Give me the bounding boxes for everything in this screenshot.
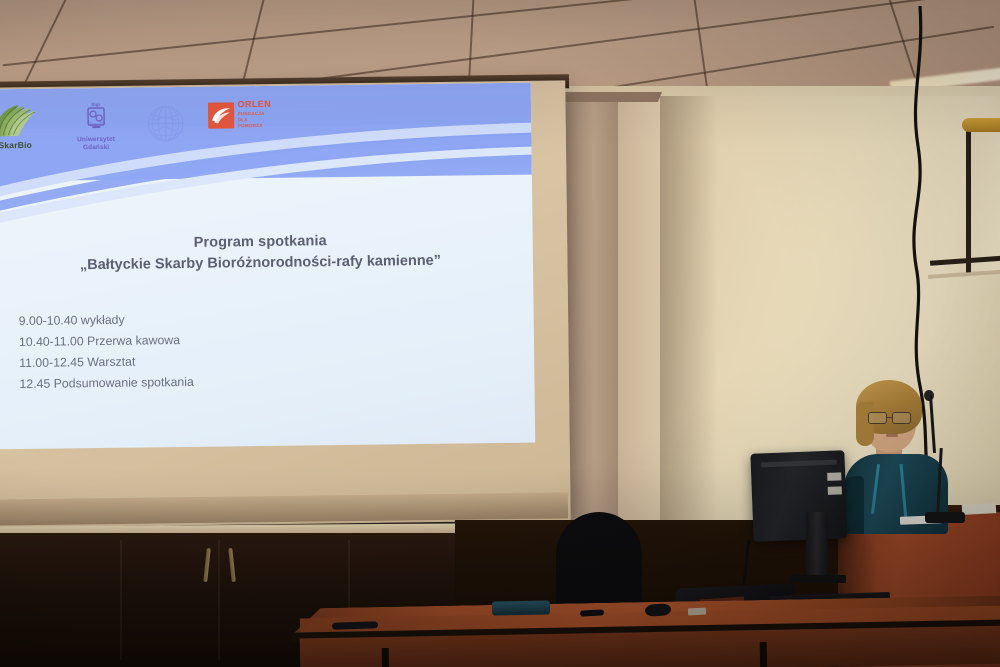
ug-label-line2: Gdański — [69, 144, 124, 153]
monitor-stand-neck — [806, 512, 828, 578]
presenter-hair-side — [856, 402, 874, 446]
globe-icon — [143, 101, 188, 146]
usb-drive[interactable] — [688, 608, 706, 616]
monitor-sticker — [827, 472, 841, 481]
column-top-edge — [556, 92, 662, 102]
slide-title: Program spotkania „Bałtyckie Skarby Bior… — [0, 231, 533, 275]
podium-papers — [962, 503, 996, 515]
blue-case[interactable] — [492, 600, 550, 615]
slide-title-line2: „Bałtyckie Skarby Bioróżnorodności-rafy … — [0, 252, 533, 275]
slide-agenda-list: 9.00-10.40 wykłady 10.40-11.00 Przerwa k… — [19, 309, 194, 396]
microphone-base[interactable] — [925, 512, 965, 523]
globe-logo — [143, 101, 188, 151]
conference-room-photo: SkarBio Sigi Uniwersytet Gdański — [0, 0, 1000, 667]
orlen-eagle-icon — [208, 102, 234, 128]
slide-partner-logos: SkarBio Sigi Uniwersytet Gdański — [0, 100, 273, 164]
skarbio-logo: SkarBio — [0, 103, 49, 151]
cabinet-seam — [120, 540, 122, 660]
skarbio-leaf-icon — [0, 103, 40, 138]
projected-slide: SkarBio Sigi Uniwersytet Gdański — [0, 83, 535, 450]
marker-pen[interactable] — [580, 609, 604, 616]
agenda-item: 12.45 Podsumowanie spotkania — [19, 372, 194, 395]
ug-crest-icon — [86, 107, 106, 129]
roll-down-projection-board[interactable] — [966, 128, 1000, 273]
agenda-item: 10.40-11.00 Przerwa kawowa — [19, 330, 194, 353]
orlen-fundacja-logo: ORLEN FUNDACJA DLA POMORZA — [208, 100, 273, 130]
agenda-item: 9.00-10.40 wykłady — [19, 309, 194, 332]
skarbio-logo-caption: SkarBio — [0, 140, 49, 151]
column-front-face — [618, 96, 660, 536]
orlen-brand-name: ORLEN — [238, 100, 273, 109]
cabinet-seam — [218, 540, 220, 660]
table-leg — [382, 648, 390, 667]
computer-monitor[interactable] — [750, 450, 847, 542]
orlen-sub-line2: DLA POMORZA — [238, 117, 273, 130]
monitor-vent — [761, 460, 837, 468]
monitor-stand-base — [790, 575, 846, 583]
eyeglasses-icon — [868, 412, 916, 424]
mouth — [886, 434, 898, 437]
agenda-item: 11.00-12.45 Warsztat — [19, 351, 194, 374]
uniwersytet-gdanski-logo: Sigi Uniwersytet Gdański — [68, 102, 123, 153]
wall-shadow — [660, 96, 718, 526]
monitor-sticker — [828, 486, 842, 495]
table-leg — [760, 642, 768, 667]
board-roller — [962, 118, 1000, 132]
